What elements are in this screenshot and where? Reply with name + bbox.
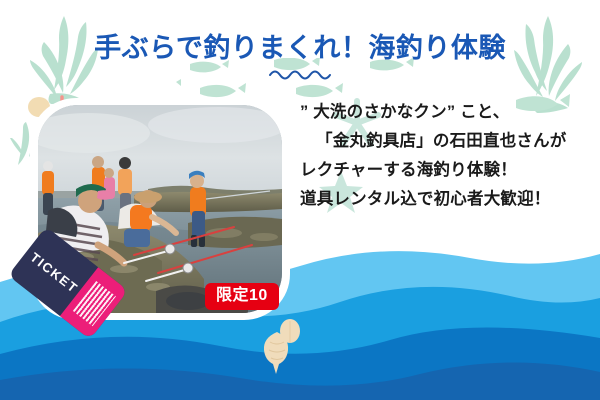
description-line-1: ” 大洗のさかなクン” こと、 [300, 98, 585, 127]
description-line-2: 「金丸釣具店」の石田直也さんが [300, 127, 585, 156]
description-line-3: レクチャーする海釣り体験！ [300, 156, 585, 185]
banner-description: ” 大洗のさかなクン” こと、 「金丸釣具店」の石田直也さんが レクチャーする海… [300, 98, 585, 214]
banner-title: 手ぶらで釣りまくれ！海釣り体験 [0, 26, 600, 65]
description-line-4: 道具レンタル込で初心者大歓迎！ [300, 185, 585, 214]
wave-squiggle-icon [268, 66, 332, 82]
limit-badge: 限定10 [205, 283, 279, 310]
fishing-experience-banner: 手ぶらで釣りまくれ！海釣り体験 [0, 0, 600, 400]
